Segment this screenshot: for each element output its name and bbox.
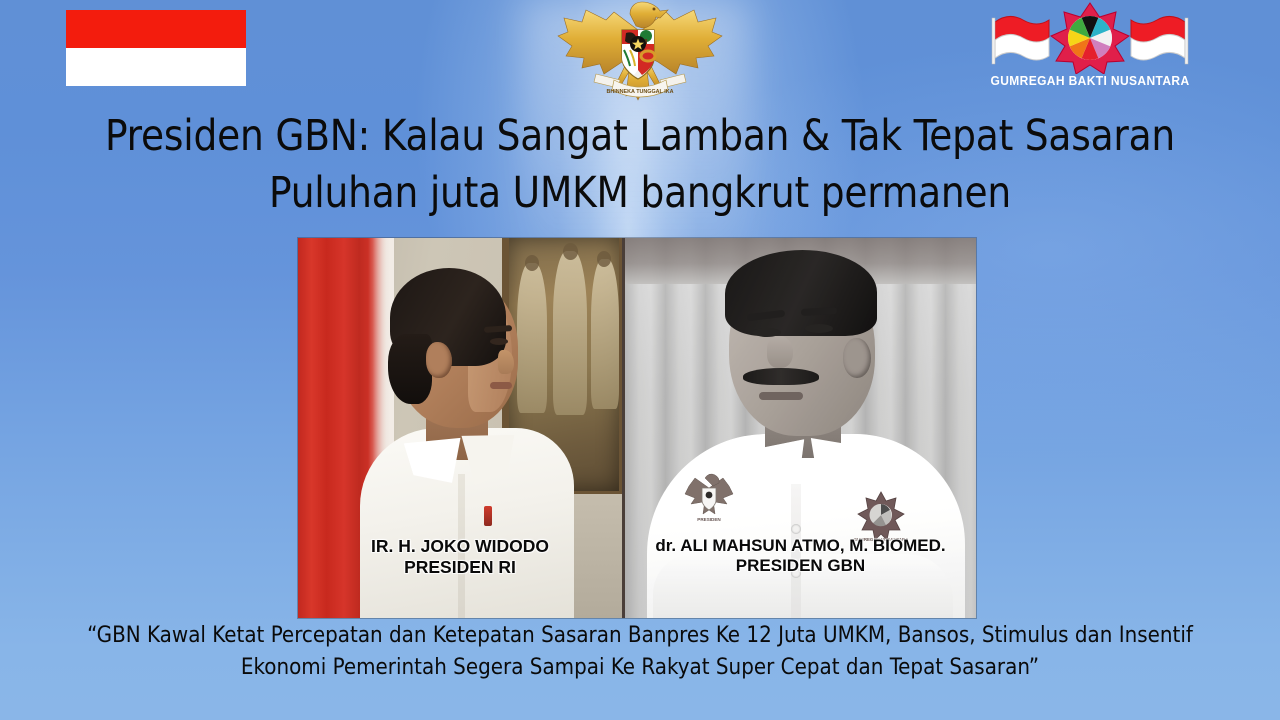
page-title: Presiden GBN: Kalau Sangat Lamban & Tak …: [0, 108, 1280, 222]
indonesia-flag-icon: [66, 10, 246, 86]
jokowi-mouth: [490, 382, 512, 389]
gbn-color-wheel-icon: [1068, 16, 1112, 60]
gbn-flag-left-icon: [992, 16, 1049, 64]
quote-text: “GBN Kawal Ketat Percepatan dan Ketepata…: [0, 620, 1280, 684]
caption-left-role: PRESIDEN RI: [298, 557, 622, 578]
photo-joko-widodo: IR. H. JOKO WIDODO PRESIDEN RI: [298, 238, 622, 618]
caption-ali-mahsun-atmo: dr. ALI MAHSUN ATMO, M. BIOMED. PRESIDEN…: [625, 536, 976, 576]
quote-line-1: “GBN Kawal Ketat Percepatan dan Ketepata…: [10, 620, 1271, 652]
jokowi-sideburn: [388, 334, 432, 404]
ali-hair: [725, 250, 877, 336]
title-line-2: Puluhan juta UMKM bangkrut permanen: [19, 165, 1261, 222]
emblem-motto-text: BHINNEKA TUNGGAL IKA: [606, 89, 673, 95]
ali-ear: [843, 338, 871, 378]
gbn-logo-mark: [975, 2, 1205, 74]
photo-ali-mahsun-atmo: PRESIDEN GUMREGAH NUSANTARA: [622, 238, 976, 618]
caption-right-role: PRESIDEN GBN: [625, 556, 976, 576]
jokowi-nose: [498, 350, 514, 374]
slide-canvas: BHINNEKA TUNGGAL IKA: [0, 0, 1280, 720]
ali-nose: [767, 336, 793, 368]
jokowi-eye: [490, 338, 508, 345]
garuda-pancasila-emblem-icon: BHINNEKA TUNGGAL IKA: [556, 0, 724, 108]
ali-patch-garuda-icon: PRESIDEN: [681, 470, 737, 526]
ali-mustache: [743, 368, 819, 385]
gbn-logo: GUMREGAH BAKTI NUSANTARA: [975, 2, 1205, 98]
photo-pair: IR. H. JOKO WIDODO PRESIDEN RI: [298, 238, 976, 618]
ali-patch-left-label: PRESIDEN: [697, 517, 721, 522]
ali-mouth: [759, 392, 803, 400]
ali-eye-right: [805, 324, 833, 333]
gbn-flag-right-icon: [1131, 16, 1188, 64]
caption-joko-widodo: IR. H. JOKO WIDODO PRESIDEN RI: [298, 536, 622, 577]
caption-left-name: IR. H. JOKO WIDODO: [371, 536, 549, 556]
gbn-logo-caption: GUMREGAH BAKTI NUSANTARA: [980, 74, 1201, 88]
quote-line-2: Ekonomi Pemerintah Segera Sampai Ke Raky…: [10, 652, 1271, 684]
jokowi-lapel-pin: [484, 506, 492, 526]
caption-right-name: dr. ALI MAHSUN ATMO, M. BIOMED.: [655, 536, 945, 555]
title-line-1: Presiden GBN: Kalau Sangat Lamban & Tak …: [19, 108, 1261, 165]
jokowi-ear: [426, 342, 452, 378]
